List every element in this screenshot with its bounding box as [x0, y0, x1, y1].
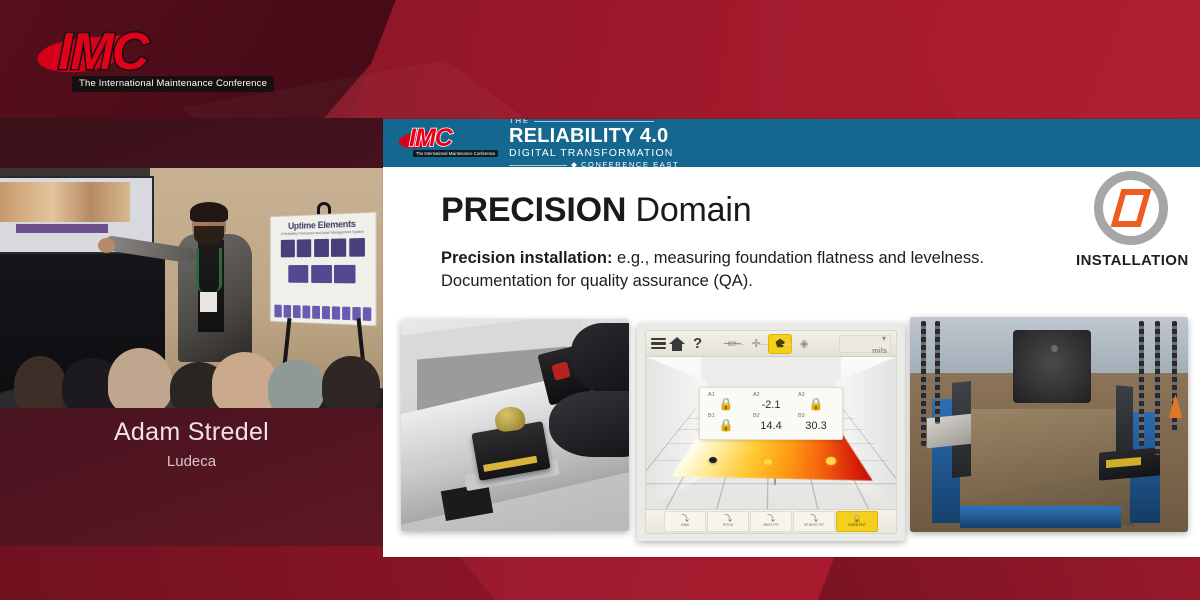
- presenter-hand: [98, 238, 115, 253]
- banner-diamond-icon: [571, 162, 577, 168]
- readout-cell-a1: A1 🔒: [708, 395, 744, 413]
- hanging-chain: [935, 321, 940, 424]
- poster-row: [276, 238, 369, 258]
- speaker-organization: Ludeca: [0, 453, 383, 470]
- results-step-icon[interactable]: ◈: [792, 334, 816, 354]
- banner-text: THE RELIABILITY 4.0 DIGITAL TRANSFORMATI…: [509, 119, 679, 169]
- imc-wordmark: IMC: [409, 124, 452, 153]
- measurement-readout: A1 🔒 A2 -2.1 A3 🔒: [699, 387, 843, 440]
- pitch-mode-button[interactable]: ⤵ PITCH: [707, 511, 749, 532]
- banner-east: CONFERENCE EAST: [581, 161, 679, 169]
- page-title-strong: PRECISION: [441, 191, 626, 229]
- photo-tablet-app: ? ⇥⇤ ✛ ⬟ ◈ ▾ mils TAP ☃ TO MOVE REF. POI…: [637, 323, 905, 541]
- readout-cell-a3: A3 🔒: [798, 395, 834, 413]
- readout-row-b: B1 🔒 B2 14.4 B3 30.3: [708, 413, 834, 434]
- parallelogram-icon: [1111, 189, 1152, 227]
- raw-mode-button[interactable]: ⤵ RAW: [664, 511, 706, 532]
- banner-the-row: THE: [509, 119, 679, 125]
- audience-head: [14, 356, 66, 408]
- readout-tag: B1: [708, 413, 715, 419]
- speaker-photo: Uptime Elements A Reliability Framework …: [0, 168, 383, 408]
- gloved-hand: [549, 391, 629, 457]
- uptime-elements-poster: Uptime Elements A Reliability Framework …: [270, 212, 377, 327]
- threepoint-bestfit-button[interactable]: ⤵ 3P BEST FIT: [793, 511, 835, 532]
- poster-cell: [288, 265, 308, 283]
- unit-selector[interactable]: ▾ mils: [839, 335, 891, 353]
- poster-cell: [349, 238, 365, 257]
- poster-row: [276, 265, 369, 284]
- drum-hub: [1051, 345, 1058, 352]
- laser-unit: [1099, 448, 1160, 481]
- imc-tagline: The International Maintenance Conference: [413, 150, 498, 157]
- step-nav: ⇥⇤ ✛ ⬟ ◈: [720, 334, 816, 354]
- banner-rule: [509, 165, 567, 166]
- audience-head: [268, 360, 324, 408]
- projection-bar: [16, 224, 108, 233]
- slide-banner: IMC The International Maintenance Confer…: [383, 119, 1200, 167]
- help-button[interactable]: ?: [693, 336, 702, 351]
- page-title: PRECISION Domain: [441, 191, 751, 230]
- readout-tag: B3: [798, 413, 805, 419]
- speaker-name: Adam Stredel: [0, 418, 383, 447]
- bestfit-mode-button[interactable]: ⤵ BEST FIT: [750, 511, 792, 532]
- machine-drum: [1013, 330, 1091, 403]
- installation-label: INSTALLATION: [1076, 252, 1186, 269]
- presenter-badge: [200, 292, 217, 312]
- hanging-chain: [1139, 321, 1144, 446]
- speaker-meta: Adam Stredel Ludeca: [0, 418, 383, 470]
- fixed-point-label: FIXED PNT: [848, 524, 866, 528]
- readout-cell-a2: A2 -2.1: [753, 395, 789, 413]
- readout-value: 14.4: [760, 420, 781, 432]
- hamburger-icon[interactable]: [651, 338, 666, 350]
- readout-value: -2.1: [762, 399, 781, 411]
- bestfit-label: BEST FIT: [764, 524, 779, 528]
- audience-head: [322, 356, 380, 408]
- poster-cell: [311, 265, 332, 283]
- banner-sub: DIGITAL TRANSFORMATION: [509, 148, 679, 159]
- presentation-slide: IMC The International Maintenance Confer…: [383, 119, 1200, 557]
- hanging-chain: [1155, 321, 1160, 454]
- photo-machine-foundation: [910, 317, 1188, 532]
- app-bottom-toolbar: ⤵ RAW ⤵ PITCH ⤵ BEST FIT ⤵ 3P BEST FIT: [646, 509, 896, 533]
- poster-cell: [334, 265, 356, 283]
- lock-icon: 🔒: [809, 397, 824, 411]
- imc-logo: IMC The International Maintenance Confer…: [36, 20, 251, 92]
- app-3d-view[interactable]: A1 🔒 A2 -2.1 A3 🔒: [646, 357, 896, 509]
- measurement-point[interactable]: [709, 457, 717, 463]
- lock-icon: 🔒: [719, 418, 734, 432]
- ring-icon: [1094, 171, 1168, 245]
- lock-icon: 🔒: [719, 397, 734, 411]
- flatness-app: ? ⇥⇤ ✛ ⬟ ◈ ▾ mils TAP ☃ TO MOVE REF. POI…: [645, 330, 897, 534]
- lock-icon: 🔒: [852, 515, 862, 523]
- slide-body-text: Precision installation: e.g., measuring …: [441, 247, 1081, 294]
- metal-plate: [927, 414, 971, 449]
- poster-cell: [280, 240, 294, 258]
- hanging-chain: [921, 321, 926, 446]
- audience-head: [108, 348, 172, 408]
- readout-row-a: A1 🔒 A2 -2.1 A3 🔒: [708, 392, 834, 413]
- poster-cell: [314, 239, 329, 257]
- imc-tagline: The International Maintenance Conference: [72, 76, 274, 92]
- speaker-panel: Uptime Elements A Reliability Framework …: [0, 118, 383, 546]
- banner-main: RELIABILITY 4.0: [509, 126, 679, 146]
- readout-value: 30.3: [805, 420, 826, 432]
- pitch-icon: ⤵: [724, 515, 732, 523]
- readout-cell-b2: B2 14.4: [753, 416, 789, 434]
- readout-tag: A1: [708, 392, 715, 398]
- readout-cell-b3: B3 30.3: [798, 416, 834, 434]
- raw-label: RAW: [681, 524, 689, 528]
- threepoint-label: 3P BEST FIT: [804, 524, 824, 528]
- poster-cell: [331, 238, 346, 257]
- banner-the: THE: [509, 119, 530, 125]
- wifi-icon: ▾: [882, 334, 886, 343]
- photo-laser-on-foundation: [401, 319, 629, 531]
- unit-label: mils: [872, 346, 887, 355]
- readout-tag: B2: [753, 413, 760, 419]
- bestfit-icon: ⤵: [767, 515, 775, 523]
- slide-body-lead: Precision installation:: [441, 249, 612, 267]
- readout-tag: A3: [798, 392, 805, 398]
- threepoint-icon: ⤵: [810, 515, 818, 523]
- banner-east-row: CONFERENCE EAST: [509, 161, 679, 169]
- banner-rule: [534, 121, 654, 122]
- measurement-point[interactable]: [764, 459, 772, 465]
- app-toolbar: ? ⇥⇤ ✛ ⬟ ◈ ▾ mils: [646, 331, 896, 357]
- fixed-point-button[interactable]: 🔒 FIXED PNT: [836, 511, 878, 532]
- poster-cell: [297, 239, 311, 257]
- presenter-hair: [190, 202, 228, 222]
- raw-icon: ⤵: [681, 515, 689, 523]
- readout-cell-b1: B1 🔒: [708, 416, 744, 434]
- blue-frame-member: [960, 506, 1121, 528]
- installation-domain-mark: INSTALLATION: [1076, 171, 1186, 269]
- presenter-lanyard: [196, 248, 222, 292]
- banner-imc-logo: IMC The International Maintenance Confer…: [399, 124, 495, 162]
- pitch-label: PITCH: [723, 524, 733, 528]
- device-label-strip: [483, 456, 537, 472]
- projection-image: [0, 182, 130, 222]
- screenshot-stage: IMC The International Maintenance Confer…: [0, 0, 1200, 600]
- readout-tag: A2: [753, 392, 760, 398]
- home-icon[interactable]: [669, 337, 685, 351]
- presenter-beard: [194, 226, 224, 245]
- imc-wordmark: IMC: [58, 22, 147, 82]
- page-title-rest: Domain: [626, 191, 751, 229]
